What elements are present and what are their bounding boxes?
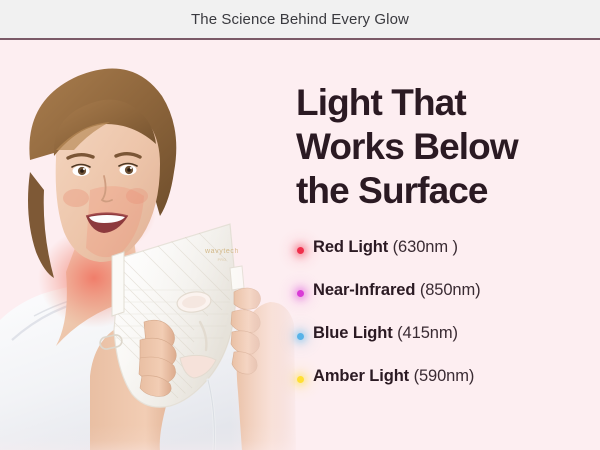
feature-name: Blue Light xyxy=(313,324,393,342)
hero-photo: wavytech PRO xyxy=(0,40,300,450)
list-item: Near-Infrared (850nm) xyxy=(296,281,592,324)
top-banner: The Science Behind Every Glow xyxy=(0,0,600,38)
banner-title: The Science Behind Every Glow xyxy=(191,11,409,28)
svg-text:wavytech: wavytech xyxy=(204,248,239,255)
left-hand xyxy=(139,320,176,396)
near-infrared-dot-icon xyxy=(297,290,304,297)
list-item: Red Light (630nm ) xyxy=(296,238,592,281)
svg-text:PRO: PRO xyxy=(218,258,227,262)
list-item: Amber Light (590nm) xyxy=(296,367,592,410)
feature-wavelength: (630nm ) xyxy=(393,238,458,256)
feature-name: Red Light xyxy=(313,238,388,256)
promo-card: The Science Behind Every Glow xyxy=(0,0,600,450)
hero-text-column: Light That Works Below the Surface Red L… xyxy=(296,81,592,410)
content-area: wavytech PRO xyxy=(0,40,600,450)
feature-name: Near-Infrared xyxy=(313,281,415,299)
feature-wavelength: (850nm) xyxy=(420,281,481,299)
feature-wavelength: (590nm) xyxy=(414,367,475,385)
list-item: Blue Light (415nm) xyxy=(296,324,592,367)
wavelength-list: Red Light (630nm ) Near-Infrared (850nm)… xyxy=(296,238,592,410)
feature-wavelength: (415nm) xyxy=(397,324,458,342)
blue-light-dot-icon xyxy=(297,333,304,340)
feature-name: Amber Light xyxy=(313,367,409,385)
amber-light-dot-icon xyxy=(297,376,304,383)
hero-photo-illustration: wavytech PRO xyxy=(0,40,300,450)
red-light-dot-icon xyxy=(297,247,304,254)
page-title: Light That Works Below the Surface xyxy=(296,81,592,213)
